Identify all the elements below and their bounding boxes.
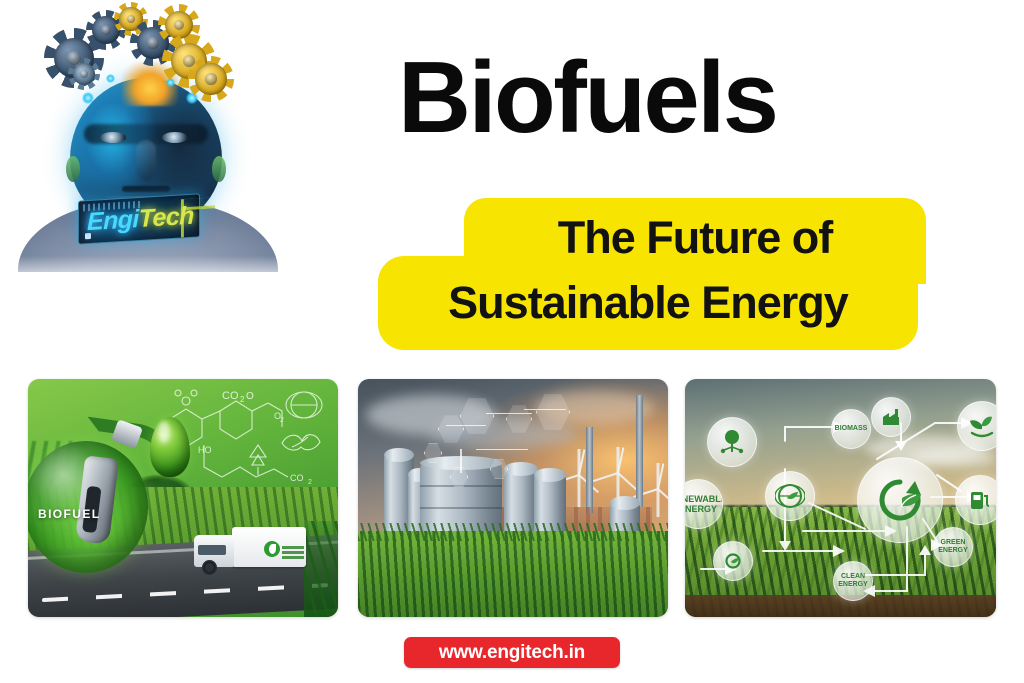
subtitle-line-2: Sustainable Energy — [378, 256, 918, 350]
flow-node-label: GREEN ENERGY — [934, 539, 972, 555]
gear-leaf-icon — [723, 551, 743, 571]
cyborg-head-illustration: EngiTech — [10, 0, 285, 272]
flow-node-label: RENEWABLE ENERGY — [685, 494, 723, 514]
hex-node-icon — [424, 443, 442, 463]
spark-icon — [106, 74, 115, 83]
brand-wordmark: EngiTech — [87, 201, 193, 237]
tech-hexagon-overlay — [420, 391, 600, 483]
hex-node-icon — [438, 415, 464, 443]
svg-text:HO: HO — [198, 445, 212, 455]
chemistry-overlay: CO 2 O O 2 HO CO 2 — [164, 385, 332, 495]
sprout-hand-icon — [968, 412, 996, 440]
flow-node-earth — [765, 471, 815, 521]
ear-right — [212, 156, 226, 182]
mouth — [122, 186, 170, 192]
smokestack — [636, 395, 643, 507]
delivery-truck-icon — [194, 525, 306, 575]
website-url-badge[interactable]: www.engitech.in — [404, 637, 620, 668]
tank-roof — [610, 496, 640, 510]
ear-left — [66, 156, 80, 182]
brand-mascot: EngiTech — [10, 0, 285, 272]
recycle-leaf-icon — [877, 477, 923, 523]
nose — [136, 140, 156, 180]
page-title: Biofuels — [398, 46, 918, 150]
tree-icon — [718, 428, 746, 456]
biofuel-nozzle-scene: CO 2 O O 2 HO CO 2 — [28, 379, 338, 617]
tank-roof — [384, 448, 414, 462]
subtitle-banner: The Future of Sustainable Energy — [378, 198, 918, 350]
gallery-card-process-flow[interactable]: BIOMASS — [685, 379, 996, 617]
hex-node-icon — [536, 393, 570, 431]
gallery-card-biorefinery[interactable] — [358, 379, 668, 617]
fuel-pump-icon — [967, 487, 993, 513]
poster-canvas: EngiTech Biofuels The Future of Sustaina… — [0, 0, 1024, 683]
gear-icon — [188, 56, 234, 102]
truck-trailer-text — [282, 545, 304, 559]
overlay-link — [476, 449, 528, 450]
svg-text:2: 2 — [308, 479, 312, 486]
eye-left — [100, 132, 126, 143]
tank-band — [420, 507, 502, 509]
molecule-diagram-icon: CO 2 O O 2 HO CO 2 — [164, 385, 332, 495]
svg-text:O: O — [246, 391, 254, 402]
brand-nameplate: EngiTech — [78, 193, 200, 244]
brand-wordmark-engi: Engi — [87, 205, 139, 236]
svg-text:CO: CO — [222, 390, 239, 402]
flow-node-tree — [707, 417, 757, 467]
flow-node-biomass: BIOMASS — [831, 409, 871, 449]
truck-window — [198, 545, 226, 555]
spark-icon — [82, 92, 94, 104]
flow-node-green-energy: GREEN ENERGY — [933, 527, 973, 567]
hex-node-icon — [490, 459, 508, 479]
crop-field — [358, 531, 668, 617]
process-flow-scene: BIOMASS — [685, 379, 996, 617]
eye-right — [162, 132, 188, 143]
factory-icon — [881, 407, 901, 427]
brand-wordmark-tech: Tech — [139, 202, 194, 233]
flow-node-refinery — [871, 397, 911, 437]
image-gallery: CO 2 O O 2 HO CO 2 — [28, 379, 996, 617]
website-url-text: www.engitech.in — [439, 642, 585, 664]
truck-leaf-logo-icon — [264, 541, 280, 557]
corn-stalks-right — [304, 521, 338, 617]
truck-wheel — [202, 560, 217, 575]
biorefinery-scene — [358, 379, 668, 617]
biofuel-label: BIOFUEL — [38, 507, 100, 521]
flow-node-gear-leaf — [713, 541, 753, 581]
flow-node-label: BIOMASS — [835, 425, 868, 433]
flow-node-recycle — [857, 457, 943, 543]
svg-text:CO: CO — [290, 473, 304, 483]
hex-node-icon — [460, 397, 494, 435]
svg-text:2: 2 — [240, 395, 245, 404]
svg-text:2: 2 — [280, 417, 284, 424]
flow-node-clean-energy: CLEAN ENERGY — [833, 561, 873, 601]
globe-leaf-icon — [775, 481, 805, 511]
flow-node-label: CLEAN ENERGY — [834, 573, 872, 589]
gallery-card-biofuel-nozzle[interactable]: CO 2 O O 2 HO CO 2 — [28, 379, 338, 617]
